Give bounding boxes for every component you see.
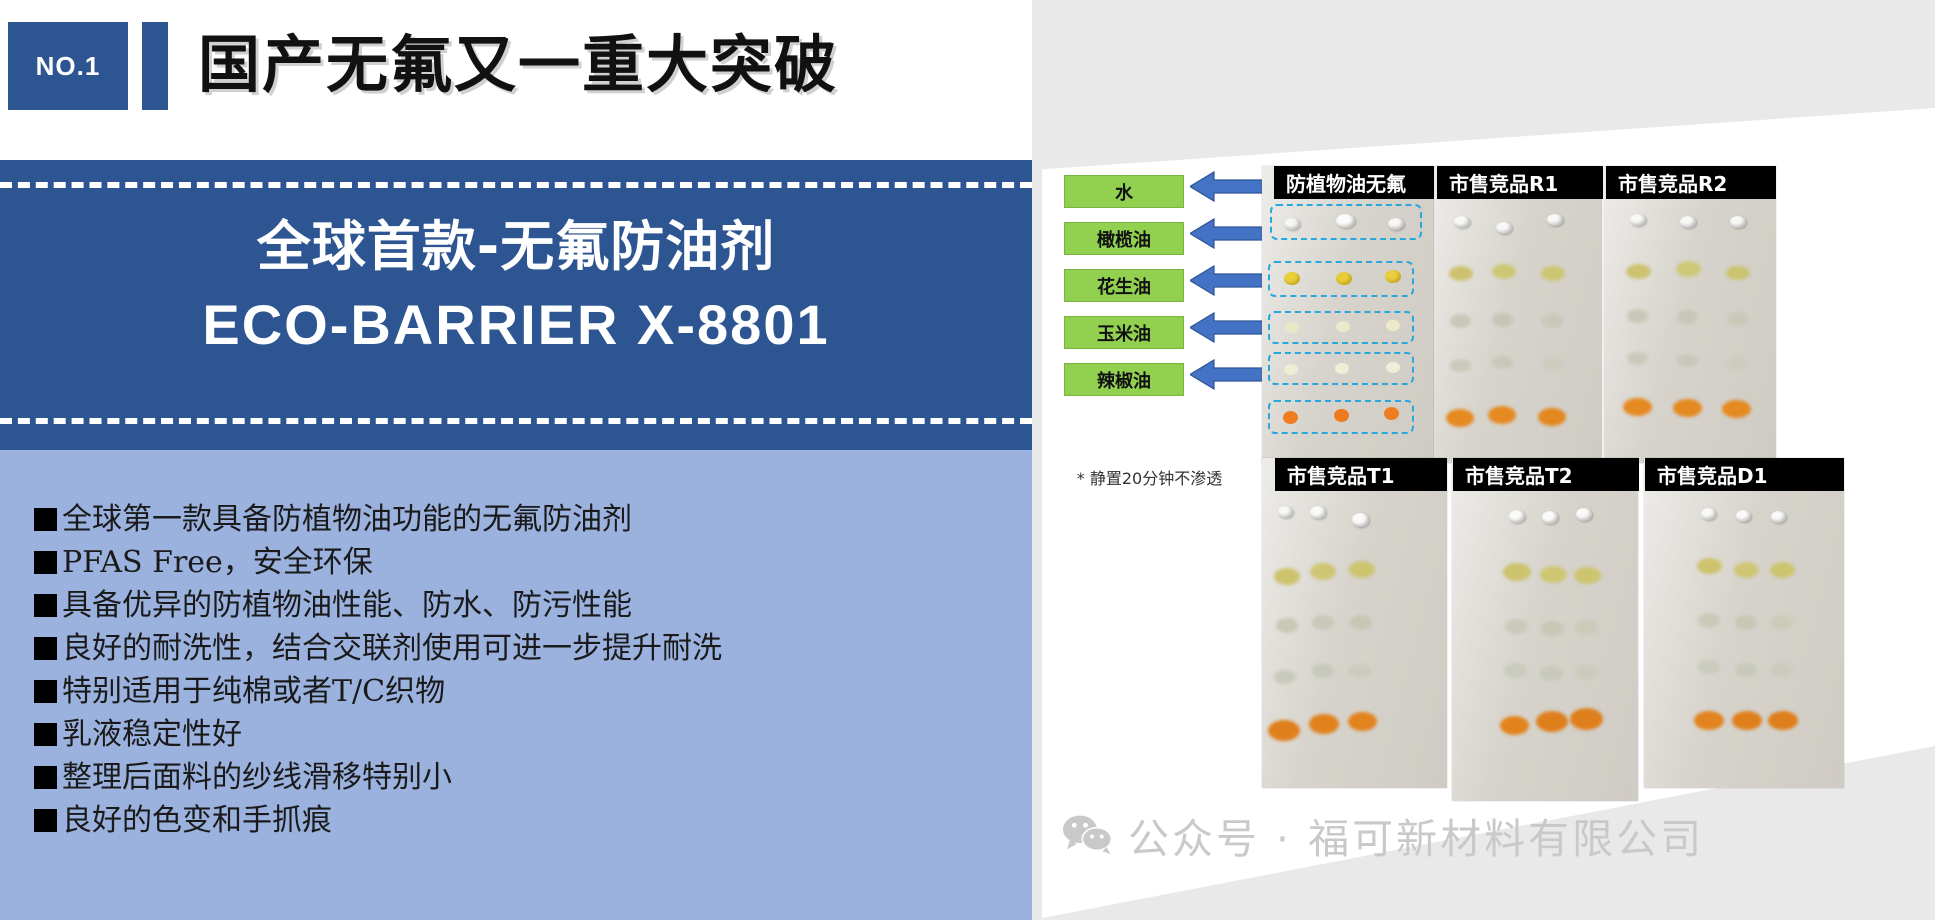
stain-chili-oil <box>1488 406 1516 424</box>
stain-chili-oil <box>1500 716 1529 735</box>
arrow-left-icon <box>1190 170 1268 203</box>
stain-peanut-oil <box>1771 615 1793 630</box>
list-item-label: 乳液稳定性好 <box>62 713 242 756</box>
watermark: 公众号 · 福可新材料有限公司 <box>1062 805 1704 865</box>
square-bullet-icon <box>34 723 57 746</box>
banner-text-block: 全球首款-无氟防油剂 ECO-BARRIER X-8801 <box>0 208 1032 364</box>
stain-corn-oil <box>1771 663 1793 677</box>
spacer <box>1064 208 1184 222</box>
stain-olive-oil <box>1726 266 1750 280</box>
stain-olive-oil <box>1310 563 1336 580</box>
slide-root: NO.1 国产无氟又一重大突破 全球首款-无氟防油剂 ECO-BARRIER X… <box>0 0 1935 920</box>
stain-chili-oil <box>1768 711 1798 730</box>
spacer <box>1064 255 1184 269</box>
banner-dashed-divider-bottom <box>0 418 1032 424</box>
stain-olive-oil <box>1503 563 1531 581</box>
footnote-text: * 静置20分钟不渗透 <box>1042 465 1257 489</box>
stain-peanut-oil <box>1575 620 1598 635</box>
stain-peanut-oil <box>1450 314 1471 328</box>
banner-dashed-divider-top <box>0 182 1032 188</box>
stain-olive-oil <box>1540 566 1567 583</box>
highlight-box-peanut-oil <box>1268 311 1414 344</box>
droplet-water <box>1278 506 1293 518</box>
stain-chili-oil <box>1536 711 1568 732</box>
list-item: 良好的耐洗性，结合交联剂使用可进一步提升耐洗 <box>34 627 1004 670</box>
list-item-label: 具备优异的防植物油性能、防水、防污性能 <box>62 584 632 627</box>
panel-title-t1: 市售竞品T1 <box>1275 458 1447 491</box>
arrow-left-water <box>1190 170 1268 203</box>
banner-heading-en: ECO-BARRIER X-8801 <box>0 286 1032 364</box>
highlight-box-water <box>1270 204 1422 240</box>
stain-chili-oil <box>1570 708 1603 730</box>
list-item: PFAS Free，安全环保 <box>34 541 1004 584</box>
highlight-box-olive-oil <box>1268 261 1414 297</box>
arrow-stack <box>1190 170 1270 391</box>
droplet-water <box>1730 216 1746 228</box>
list-item: 全球第一款具备防植物油功能的无氟防油剂 <box>34 498 1004 541</box>
square-bullet-icon <box>34 637 57 660</box>
highlight-box-corn-oil <box>1268 352 1414 385</box>
stain-chili-oil <box>1694 711 1724 730</box>
stain-corn-oil <box>1349 664 1371 678</box>
droplet-water <box>1680 216 1696 228</box>
spacer <box>1190 297 1270 311</box>
square-bullet-icon <box>34 594 57 617</box>
list-item-label: 特别适用于纯棉或者T/C织物 <box>62 670 445 713</box>
panel-title-d1: 市售竞品D1 <box>1645 458 1844 491</box>
stain-corn-oil <box>1504 663 1527 678</box>
page-title: 国产无氟又一重大突破 <box>198 20 838 110</box>
stain-corn-oil <box>1698 660 1720 674</box>
panel-title-t2: 市售竞品T2 <box>1453 458 1639 491</box>
droplet-water <box>1630 214 1646 226</box>
list-item: 良好的色变和手抓痕 <box>34 799 1004 842</box>
spacer <box>1064 349 1184 363</box>
arrow-left-corn-oil <box>1190 311 1268 344</box>
droplet-water <box>1310 506 1326 519</box>
liquid-label-water: 水 <box>1064 175 1184 208</box>
test-panel-r1 <box>1434 166 1602 463</box>
stain-corn-oil <box>1450 359 1471 372</box>
square-bullet-icon <box>34 809 57 832</box>
list-item-label: 良好的耐洗性，结合交联剂使用可进一步提升耐洗 <box>62 627 722 670</box>
list-item-label: 整理后面料的纱线滑移特别小 <box>62 756 452 799</box>
right-column: 水 橄榄油 花生油 玉米油 辣椒油 <box>1032 0 1935 920</box>
droplet-water <box>1576 508 1592 521</box>
arrow-left-icon <box>1190 264 1268 297</box>
stain-olive-oil <box>1574 567 1601 584</box>
square-bullet-icon <box>34 551 57 574</box>
square-bullet-icon <box>34 766 57 789</box>
stain-olive-oil <box>1541 266 1565 281</box>
droplet-water <box>1542 511 1558 524</box>
rank-badge: NO.1 <box>8 22 128 110</box>
arrow-left-icon <box>1190 217 1268 250</box>
stain-olive-oil <box>1697 558 1722 574</box>
square-bullet-icon <box>34 508 57 531</box>
stain-chili-oil <box>1348 712 1377 731</box>
watermark-text: 公众号 · 福可新材料有限公司 <box>1128 805 1704 865</box>
badge-accent-bar <box>142 22 168 110</box>
liquid-label-olive-oil: 橄榄油 <box>1064 222 1184 255</box>
droplet-water <box>1496 222 1512 234</box>
spacer <box>1190 344 1270 358</box>
stain-peanut-oil <box>1505 619 1528 634</box>
arrow-left-olive-oil <box>1190 217 1268 250</box>
stain-chili-oil <box>1309 714 1339 734</box>
panel-title-fluorine-free: 防植物油无氟 <box>1274 166 1434 199</box>
droplet-water <box>1352 513 1369 527</box>
stain-olive-oil <box>1734 562 1759 578</box>
spacer <box>1064 302 1184 316</box>
stain-olive-oil <box>1676 261 1701 277</box>
droplet-water <box>1509 510 1525 523</box>
stain-peanut-oil <box>1677 310 1698 324</box>
stain-peanut-oil <box>1350 615 1372 630</box>
stain-peanut-oil <box>1312 615 1334 630</box>
stain-chili-oil <box>1732 711 1762 730</box>
stain-corn-oil <box>1574 665 1597 680</box>
panel-title-r1: 市售竞品R1 <box>1437 166 1603 199</box>
stain-olive-oil <box>1274 568 1300 585</box>
list-item: 具备优异的防植物油性能、防水、防污性能 <box>34 584 1004 627</box>
test-panel-d1 <box>1644 458 1844 788</box>
stain-corn-oil <box>1540 666 1563 681</box>
liquid-label-corn-oil: 玉米油 <box>1064 316 1184 349</box>
stain-peanut-oil <box>1727 312 1748 326</box>
banner-heading-cn: 全球首款-无氟防油剂 <box>0 208 1032 286</box>
square-bullet-icon <box>34 680 57 703</box>
test-panel-t2 <box>1452 458 1638 801</box>
list-item: 特别适用于纯棉或者T/C织物 <box>34 670 1004 713</box>
list-item-label: PFAS Free，安全环保 <box>62 541 373 584</box>
stain-chili-oil <box>1268 720 1300 741</box>
stain-peanut-oil <box>1492 313 1513 327</box>
stain-corn-oil <box>1677 354 1698 367</box>
stain-corn-oil <box>1274 670 1296 684</box>
wechat-icon <box>1062 814 1114 856</box>
feature-list: 全球第一款具备防植物油功能的无氟防油剂 PFAS Free，安全环保 具备优异的… <box>0 450 1032 920</box>
stain-olive-oil <box>1770 562 1795 578</box>
spacer <box>1190 250 1270 264</box>
droplet-water <box>1701 508 1716 520</box>
stain-olive-oil <box>1492 264 1516 279</box>
arrow-left-icon <box>1190 311 1268 344</box>
droplet-water <box>1547 214 1563 226</box>
spacer <box>1190 203 1270 217</box>
product-banner: 全球首款-无氟防油剂 ECO-BARRIER X-8801 <box>0 160 1032 450</box>
list-item: 整理后面料的纱线滑移特别小 <box>34 756 1004 799</box>
stain-peanut-oil <box>1541 621 1564 636</box>
stain-chili-oil <box>1722 400 1751 418</box>
droplet-water <box>1736 510 1751 522</box>
list-item: 乳液稳定性好 <box>34 713 1004 756</box>
stain-corn-oil <box>1735 663 1757 677</box>
stain-olive-oil <box>1449 266 1473 281</box>
list-item-label: 良好的色变和手抓痕 <box>62 799 332 842</box>
stain-chili-oil <box>1623 398 1652 416</box>
stain-olive-oil <box>1349 561 1375 578</box>
stain-peanut-oil <box>1542 314 1563 328</box>
stain-corn-oil <box>1627 352 1648 365</box>
droplet-water <box>1454 216 1470 228</box>
stain-chili-oil <box>1446 409 1474 427</box>
stain-corn-oil <box>1492 356 1513 369</box>
stain-chili-oil <box>1673 399 1702 417</box>
arrow-left-chili-oil <box>1190 358 1268 391</box>
stain-peanut-oil <box>1735 615 1757 630</box>
list-item-label: 全球第一款具备防植物油功能的无氟防油剂 <box>62 498 632 541</box>
arrow-left-icon <box>1190 358 1268 391</box>
stain-chili-oil <box>1538 408 1566 426</box>
stain-peanut-oil <box>1627 309 1648 323</box>
highlight-box-chili-oil <box>1268 400 1414 434</box>
arrow-left-peanut-oil <box>1190 264 1268 297</box>
liquid-label-peanut-oil: 花生油 <box>1064 269 1184 302</box>
background-wedge-top <box>1032 0 1935 170</box>
droplet-water <box>1771 511 1786 523</box>
slide-header: NO.1 国产无氟又一重大突破 <box>0 0 1032 160</box>
stain-peanut-oil <box>1276 618 1298 633</box>
stain-corn-oil <box>1542 357 1563 370</box>
stain-corn-oil <box>1727 356 1748 369</box>
liquid-label-chili-oil: 辣椒油 <box>1064 363 1184 396</box>
left-column: NO.1 国产无氟又一重大突破 全球首款-无氟防油剂 ECO-BARRIER X… <box>0 0 1032 920</box>
test-panel-t1 <box>1262 458 1447 788</box>
stain-peanut-oil <box>1698 613 1720 628</box>
liquid-label-stack: 水 橄榄油 花生油 玉米油 辣椒油 <box>1064 175 1184 396</box>
stain-olive-oil <box>1626 264 1651 279</box>
stain-corn-oil <box>1312 664 1334 678</box>
test-panel-fluorine-free <box>1262 166 1434 463</box>
test-panel-r2 <box>1604 166 1776 463</box>
panel-title-r2: 市售竞品R2 <box>1606 166 1776 199</box>
